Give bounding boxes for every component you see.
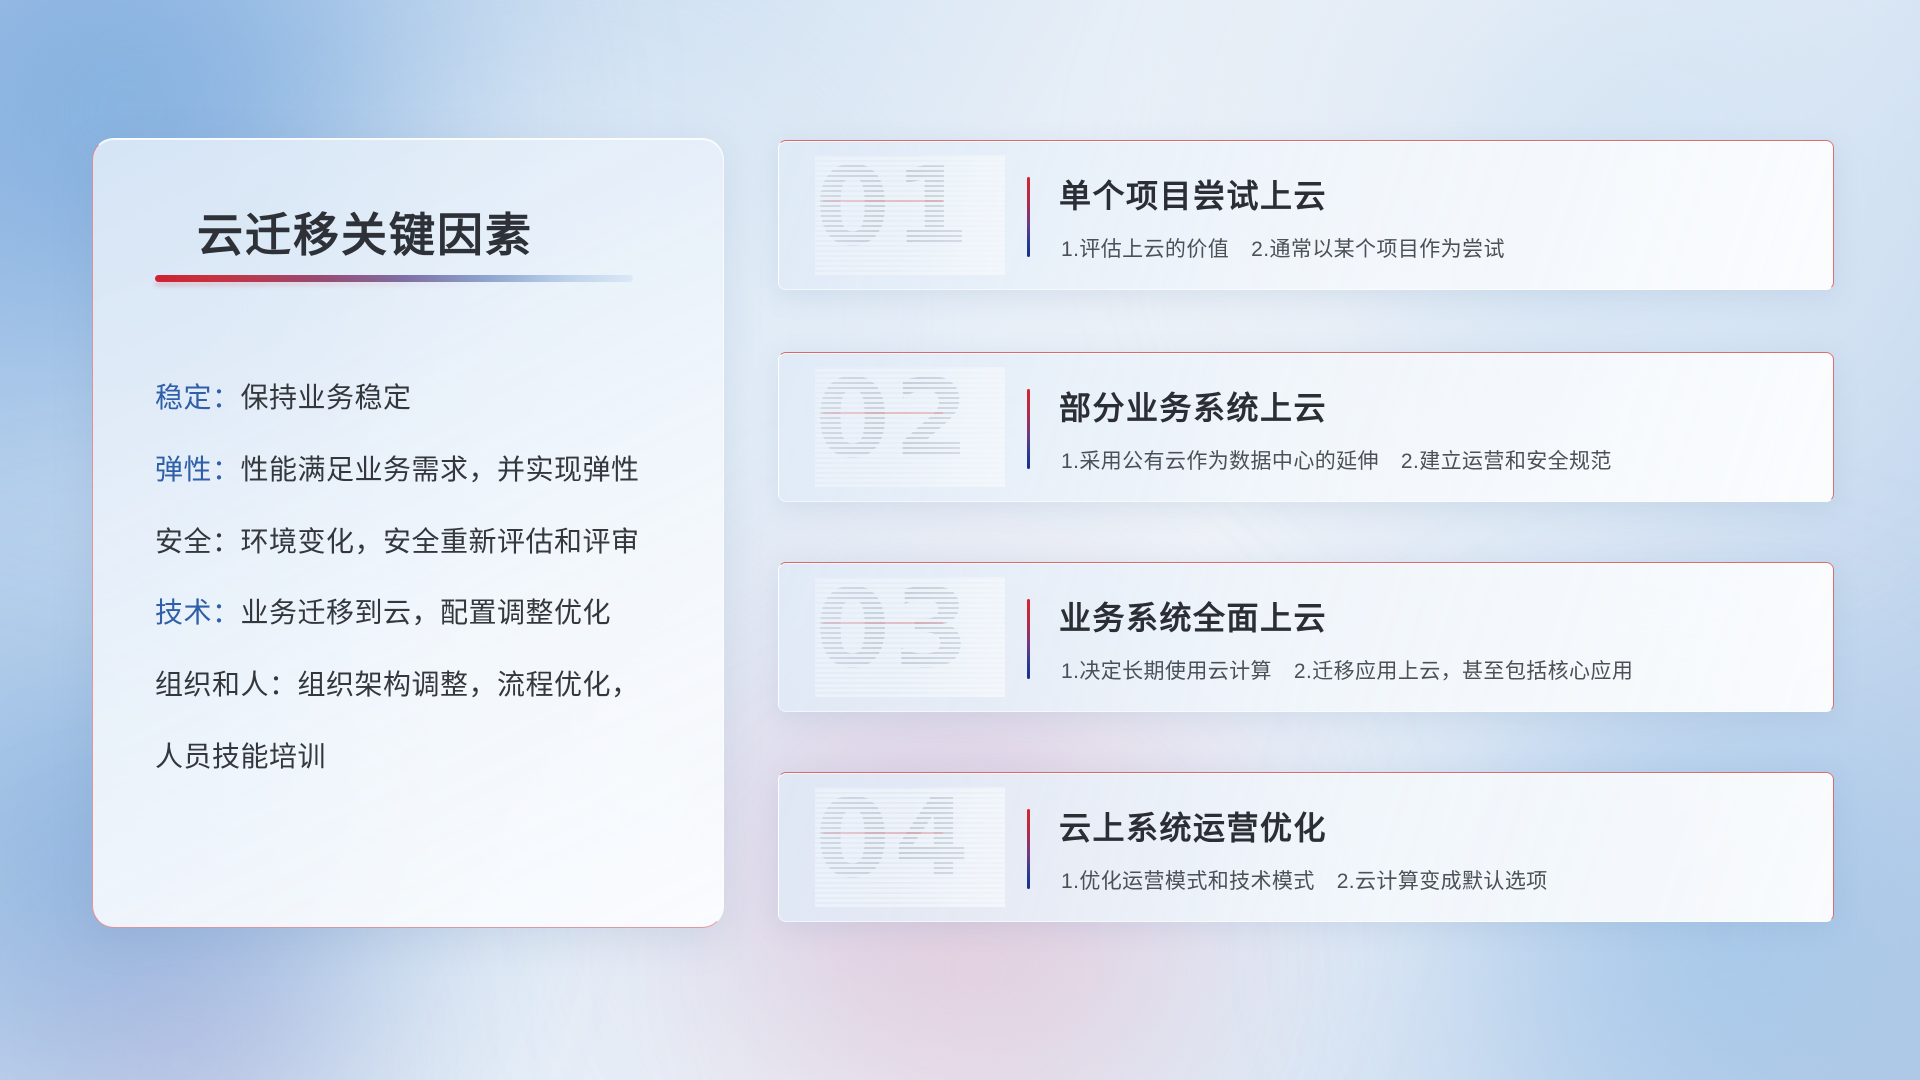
card-description-part-2: 2.通常以某个项目作为尝试 xyxy=(1251,238,1505,261)
key-factor-item: 组织和人：组织架构调整，流程优化， xyxy=(155,666,695,704)
title-underline-gradient xyxy=(155,275,633,282)
stage-number-glyph: 04 xyxy=(815,787,973,902)
key-factor-item: 技术：业务迁移到云，配置调整优化 xyxy=(155,594,695,632)
key-factor-text: 保持业务稳定 xyxy=(241,382,412,413)
card-description: 1.决定长期使用云计算2.迁移应用上云，甚至包括核心应用 xyxy=(1061,655,1633,685)
key-factor-item: 安全：环境变化，安全重新评估和评审 xyxy=(155,523,695,561)
key-factor-label: 安全： xyxy=(155,526,241,557)
card-title: 单个项目尝试上云 xyxy=(1059,171,1327,217)
key-factor-item-continued: 人员技能培训 xyxy=(155,738,695,776)
stage-card-04[interactable]: 04 云上系统运营优化 1.优化运营模式和技术模式2.云计算变成默认选项 xyxy=(778,772,1834,922)
card-accent-divider xyxy=(1027,177,1030,257)
card-title: 业务系统全面上云 xyxy=(1059,593,1327,639)
stage-number-01: 01 xyxy=(815,155,1005,275)
panel-title: 云迁移关键因素 xyxy=(197,199,533,265)
key-factor-text: 性能满足业务需求，并实现弹性 xyxy=(241,454,640,485)
key-factor-text: 人员技能培训 xyxy=(155,741,326,772)
card-description-part-2: 2.云计算变成默认选项 xyxy=(1337,870,1548,893)
card-accent-divider xyxy=(1027,599,1030,679)
card-title: 部分业务系统上云 xyxy=(1059,383,1327,429)
card-description-part-2: 2.迁移应用上云，甚至包括核心应用 xyxy=(1294,660,1633,683)
key-factor-text: 环境变化，安全重新评估和评审 xyxy=(241,526,640,557)
stage-number-02: 02 xyxy=(815,367,1005,487)
card-description-part-1: 1.优化运营模式和技术模式 xyxy=(1061,870,1315,893)
stage-number-glyph: 02 xyxy=(815,367,973,482)
card-accent-divider xyxy=(1027,809,1030,889)
stage-number-04: 04 xyxy=(815,787,1005,907)
key-factors-panel: 云迁移关键因素 稳定：保持业务稳定 弹性：性能满足业务需求，并实现弹性 安全：环… xyxy=(92,138,724,928)
stage-number-03: 03 xyxy=(815,577,1005,697)
stage-number-glyph: 03 xyxy=(815,577,973,692)
card-description-part-2: 2.建立运营和安全规范 xyxy=(1401,450,1612,473)
card-accent-divider xyxy=(1027,389,1030,469)
stage-number-glyph: 01 xyxy=(815,155,973,270)
key-factor-text: 组织架构调整，流程优化， xyxy=(298,669,640,700)
key-factor-item: 稳定：保持业务稳定 xyxy=(155,379,695,417)
stage-card-03[interactable]: 03 业务系统全面上云 1.决定长期使用云计算2.迁移应用上云，甚至包括核心应用 xyxy=(778,562,1834,712)
card-description-part-1: 1.评估上云的价值 xyxy=(1061,238,1229,261)
key-factor-label: 组织和人： xyxy=(155,669,298,700)
key-factor-label: 弹性： xyxy=(155,454,241,485)
card-title: 云上系统运营优化 xyxy=(1059,803,1327,849)
stage-card-02[interactable]: 02 部分业务系统上云 1.采用公有云作为数据中心的延伸2.建立运营和安全规范 xyxy=(778,352,1834,502)
stage-card-01[interactable]: 01 单个项目尝试上云 1.评估上云的价值2.通常以某个项目作为尝试 xyxy=(778,140,1834,290)
key-factors-list: 稳定：保持业务稳定 弹性：性能满足业务需求，并实现弹性 安全：环境变化，安全重新… xyxy=(155,379,695,776)
key-factor-text: 业务迁移到云，配置调整优化 xyxy=(241,597,612,628)
key-factor-label: 稳定： xyxy=(155,382,241,413)
card-description: 1.采用公有云作为数据中心的延伸2.建立运营和安全规范 xyxy=(1061,445,1612,475)
key-factor-item: 弹性：性能满足业务需求，并实现弹性 xyxy=(155,451,695,489)
card-description-part-1: 1.决定长期使用云计算 xyxy=(1061,660,1272,683)
card-description: 1.评估上云的价值2.通常以某个项目作为尝试 xyxy=(1061,233,1505,263)
slide-stage: 云迁移关键因素 稳定：保持业务稳定 弹性：性能满足业务需求，并实现弹性 安全：环… xyxy=(0,0,1920,1080)
card-description: 1.优化运营模式和技术模式2.云计算变成默认选项 xyxy=(1061,865,1548,895)
card-description-part-1: 1.采用公有云作为数据中心的延伸 xyxy=(1061,450,1379,473)
key-factor-label: 技术： xyxy=(155,597,241,628)
